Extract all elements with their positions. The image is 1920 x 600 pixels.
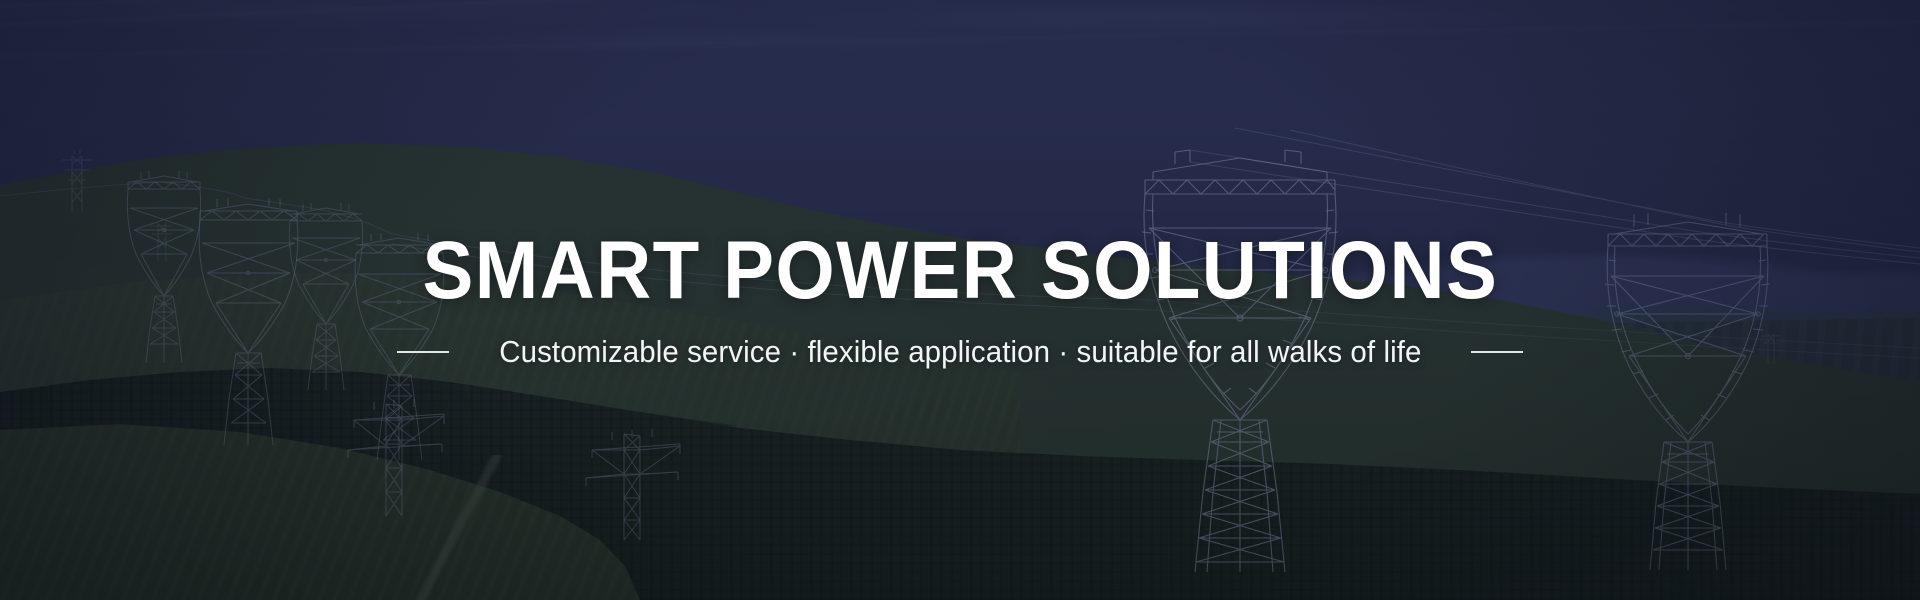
right-divider-rule: [1471, 351, 1523, 353]
left-divider-rule: [397, 351, 449, 353]
hero-banner: SMART POWER SOLUTIONS Customizable servi…: [0, 0, 1920, 600]
hero-content: SMART POWER SOLUTIONS Customizable servi…: [0, 0, 1920, 600]
page-subtitle: Customizable service · flexible applicat…: [499, 334, 1421, 370]
subtitle-row: Customizable service · flexible applicat…: [397, 334, 1524, 370]
page-title: SMART POWER SOLUTIONS: [422, 230, 1498, 312]
